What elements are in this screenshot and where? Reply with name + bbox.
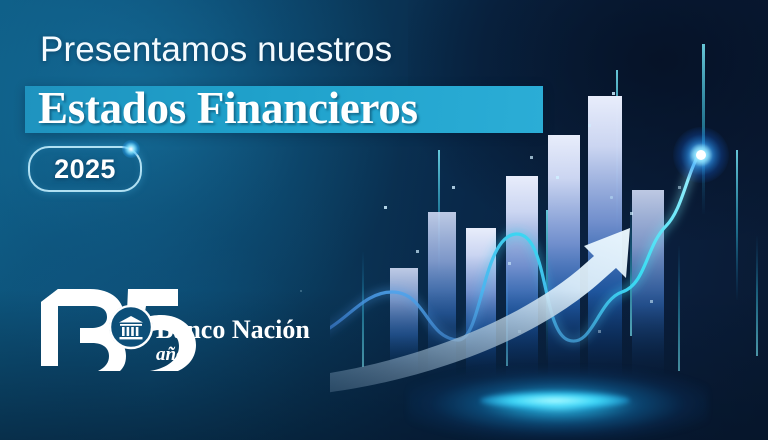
year-badge-spark-icon xyxy=(122,140,140,158)
bank-building-icon xyxy=(109,305,153,349)
brand-logo: 135 Banco Nación años xyxy=(28,272,348,372)
headline-text: Presentamos nuestros xyxy=(40,32,392,67)
brand-name: Banco Nación xyxy=(156,315,310,344)
sparkle xyxy=(300,290,302,292)
sparkle xyxy=(610,196,613,199)
line-endpoint-dot xyxy=(696,150,706,160)
page-title: Estados Financieros xyxy=(38,85,558,132)
floor-glow-core xyxy=(480,392,630,409)
promo-banner: Presentamos nuestros Estados Financieros… xyxy=(0,0,768,440)
logo-suffix-anios: años xyxy=(156,344,193,365)
